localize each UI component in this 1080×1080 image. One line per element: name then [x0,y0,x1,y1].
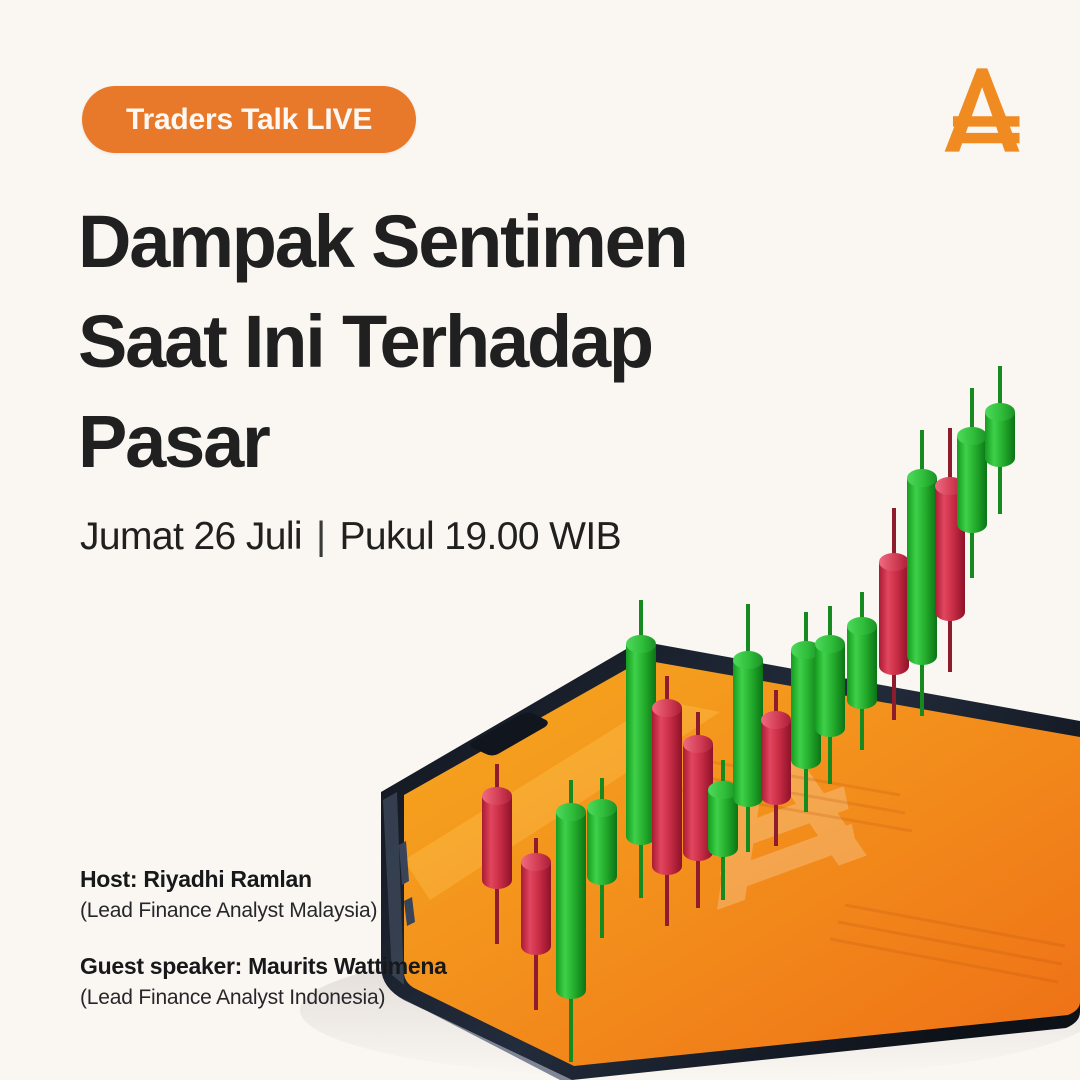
candlestick-body [652,708,682,875]
candlestick-cap [652,699,682,717]
candlestick-body [587,808,617,885]
promo-poster: Traders Talk LIVE Dampak Sentimen Saat I… [0,0,1080,1080]
candlestick-body [761,720,791,805]
candlestick-cap [556,803,586,821]
live-badge-label: Traders Talk LIVE [126,103,372,137]
candlestick-cap [847,617,877,635]
credit-guest: Guest speaker: Maurits Wattimena (Lead F… [80,953,550,1010]
candlestick-body [733,660,763,807]
octa-a-logo-icon [928,58,1032,162]
candlestick-body [815,644,845,737]
candlestick-bullish [907,430,937,716]
candlestick-body [847,626,877,709]
candlestick-body [907,478,937,665]
headline-line-1: Dampak Sentimen [78,192,838,292]
credit-host: Host: Riyadhi Ramlan (Lead Finance Analy… [80,866,550,923]
credit-host-name: Host: Riyadhi Ramlan [80,866,550,893]
candlestick-cap [985,403,1015,421]
live-badge[interactable]: Traders Talk LIVE [82,86,416,153]
candlestick-cap [815,635,845,653]
candlestick-cap [626,635,656,653]
candlestick-body [957,436,987,533]
credit-host-role: (Lead Finance Analyst Malaysia) [80,899,550,923]
candlestick-body [879,562,909,675]
candlestick-body [626,644,656,845]
candlestick-body [556,812,586,999]
candlestick-cap [683,735,713,753]
credit-guest-name: Guest speaker: Maurits Wattimena [80,953,550,980]
credit-guest-role: (Lead Finance Analyst Indonesia) [80,986,550,1010]
candlestick-cap [879,553,909,571]
candlestick-cap [761,711,791,729]
candlestick-bullish [985,366,1015,514]
credits-block: Host: Riyadhi Ramlan (Lead Finance Analy… [80,866,550,1010]
candlestick-cap [907,469,937,487]
candlestick-cap [733,651,763,669]
candlestick-cap [587,799,617,817]
candlestick-cap [482,787,512,805]
candlestick-cap [957,427,987,445]
